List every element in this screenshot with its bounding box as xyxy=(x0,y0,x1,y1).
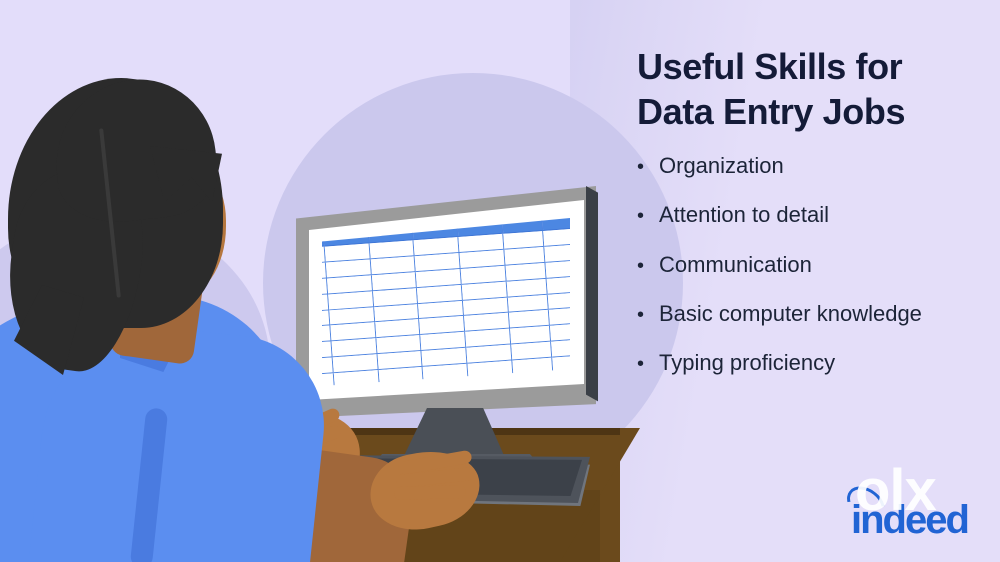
bullet-icon: • xyxy=(637,157,659,177)
title-line-2: Data Entry Jobs xyxy=(637,91,905,132)
list-item: • Attention to detail xyxy=(637,202,982,228)
list-item: • Typing proficiency xyxy=(637,350,982,376)
monitor-side-edge xyxy=(586,186,598,408)
skill-label: Basic computer knowledge xyxy=(659,301,922,327)
list-item: • Organization xyxy=(637,153,982,179)
list-item: • Basic computer knowledge xyxy=(637,301,982,327)
infographic-canvas: Useful Skills for Data Entry Jobs • Orga… xyxy=(0,0,1000,562)
person-illustration xyxy=(0,0,520,562)
list-item: • Communication xyxy=(637,252,982,278)
right-hand-finger xyxy=(394,485,466,501)
title-line-1: Useful Skills for xyxy=(637,46,902,87)
bullet-icon: • xyxy=(637,354,659,374)
bullet-icon: • xyxy=(637,206,659,226)
page-title: Useful Skills for Data Entry Jobs xyxy=(637,44,982,135)
skill-label: Organization xyxy=(659,153,784,179)
bullet-icon: • xyxy=(637,256,659,276)
skill-label: Typing proficiency xyxy=(659,350,835,376)
skill-label: Attention to detail xyxy=(659,202,829,228)
skills-list: • Organization • Attention to detail • C… xyxy=(637,153,982,377)
bullet-icon: • xyxy=(637,305,659,325)
olx-watermark: olx xyxy=(855,462,936,520)
skill-label: Communication xyxy=(659,252,812,278)
text-content-block: Useful Skills for Data Entry Jobs • Orga… xyxy=(637,44,982,400)
